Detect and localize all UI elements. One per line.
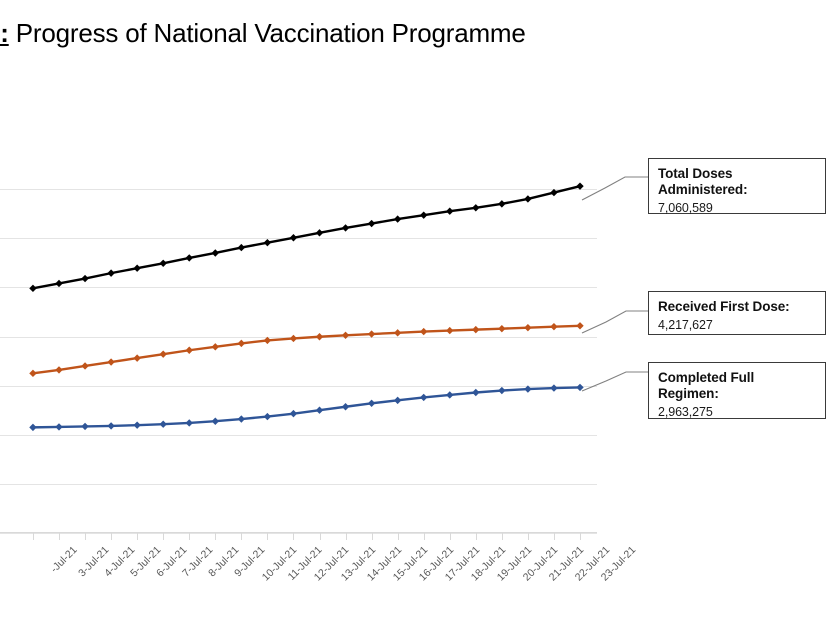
data-point-marker: [238, 415, 245, 422]
chart-x-axis: -Jul-213-Jul-214-Jul-215-Jul-216-Jul-217…: [0, 533, 597, 623]
data-point-marker: [55, 423, 62, 430]
callout-full-regimen-value: 2,963,275: [658, 405, 817, 420]
data-point-marker: [290, 410, 297, 417]
series-line: [33, 387, 580, 427]
data-point-marker: [576, 322, 583, 329]
x-axis-tick: [137, 533, 138, 540]
data-point-marker: [107, 358, 114, 365]
series-line: [33, 186, 580, 288]
x-axis-tick: [85, 533, 86, 540]
data-point-marker: [133, 421, 140, 428]
data-point-marker: [472, 326, 479, 333]
page-title-prefix: 2:: [0, 18, 9, 48]
x-axis-tick: [450, 533, 451, 540]
data-point-marker: [316, 229, 323, 236]
callout-first-dose[interactable]: Received First Dose: 4,217,627: [648, 291, 826, 335]
data-point-marker: [394, 397, 401, 404]
data-point-marker: [550, 189, 557, 196]
callout-total-doses-label: Total DosesAdministered:: [658, 166, 817, 198]
data-point-marker: [420, 211, 427, 218]
x-axis-tick: [215, 533, 216, 540]
page-title: 2: Progress of National Vaccination Prog…: [0, 18, 806, 49]
x-axis-tick: [502, 533, 503, 540]
data-point-marker: [55, 280, 62, 287]
data-point-marker: [576, 384, 583, 391]
data-point-marker: [133, 354, 140, 361]
chart-plot-area: [0, 140, 597, 533]
callout-total-doses[interactable]: Total DosesAdministered: 7,060,589: [648, 158, 826, 214]
data-point-marker: [29, 370, 36, 377]
data-point-marker: [212, 418, 219, 425]
data-point-marker: [342, 224, 349, 231]
x-axis-tick: [580, 533, 581, 540]
data-point-marker: [29, 424, 36, 431]
data-point-marker: [55, 366, 62, 373]
x-axis-tick: [528, 533, 529, 540]
data-point-marker: [394, 329, 401, 336]
data-point-marker: [524, 385, 531, 392]
data-point-marker: [446, 208, 453, 215]
data-point-marker: [472, 204, 479, 211]
x-axis-tick: [554, 533, 555, 540]
data-point-marker: [264, 337, 271, 344]
data-point-marker: [186, 419, 193, 426]
data-point-marker: [160, 350, 167, 357]
data-point-marker: [160, 420, 167, 427]
x-axis-tick: [189, 533, 190, 540]
data-point-marker: [524, 195, 531, 202]
data-point-marker: [133, 265, 140, 272]
data-point-marker: [81, 275, 88, 282]
series-total-doses-administered: [29, 182, 583, 292]
data-point-marker: [368, 330, 375, 337]
data-point-marker: [212, 249, 219, 256]
data-point-marker: [420, 394, 427, 401]
data-point-marker: [107, 269, 114, 276]
data-point-marker: [316, 333, 323, 340]
data-point-marker: [29, 285, 36, 292]
callout-total-doses-value: 7,060,589: [658, 201, 817, 216]
x-axis-tick: [372, 533, 373, 540]
data-point-marker: [550, 323, 557, 330]
x-axis-tick: [111, 533, 112, 540]
data-point-marker: [498, 200, 505, 207]
data-point-marker: [446, 391, 453, 398]
x-axis-tick: [163, 533, 164, 540]
callout-full-regimen[interactable]: Completed FullRegimen: 2,963,275: [648, 362, 826, 419]
series-received-first-dose: [29, 322, 583, 377]
callout-first-dose-value: 4,217,627: [658, 318, 817, 333]
chart-series-layer: [0, 140, 597, 533]
x-axis-tick: [346, 533, 347, 540]
data-point-marker: [238, 340, 245, 347]
data-point-marker: [368, 400, 375, 407]
data-point-marker: [524, 324, 531, 331]
x-axis-tick: [424, 533, 425, 540]
x-axis-tick: [476, 533, 477, 540]
data-point-marker: [316, 406, 323, 413]
data-point-marker: [472, 389, 479, 396]
x-axis-tick: [33, 533, 34, 540]
data-point-marker: [342, 332, 349, 339]
data-point-marker: [238, 244, 245, 251]
data-point-marker: [264, 413, 271, 420]
data-point-marker: [420, 328, 427, 335]
data-point-marker: [107, 422, 114, 429]
data-point-marker: [394, 215, 401, 222]
x-axis-tick: [267, 533, 268, 540]
x-axis-tick: [320, 533, 321, 540]
data-point-marker: [186, 254, 193, 261]
data-point-marker: [498, 325, 505, 332]
data-point-marker: [264, 239, 271, 246]
data-point-marker: [368, 220, 375, 227]
x-axis-tick: [59, 533, 60, 540]
data-point-marker: [290, 335, 297, 342]
x-axis-tick: [241, 533, 242, 540]
callout-full-regimen-label: Completed FullRegimen:: [658, 370, 817, 402]
page-title-text: Progress of National Vaccination Program…: [9, 18, 526, 48]
data-point-marker: [550, 384, 557, 391]
x-axis-tick: [398, 533, 399, 540]
data-point-marker: [212, 343, 219, 350]
data-point-marker: [160, 260, 167, 267]
data-point-marker: [446, 327, 453, 334]
data-point-marker: [498, 387, 505, 394]
callout-first-dose-label: Received First Dose:: [658, 299, 817, 315]
series-completed-full-regimen: [29, 384, 583, 431]
data-point-marker: [576, 182, 583, 189]
data-point-marker: [290, 234, 297, 241]
x-axis-tick: [293, 533, 294, 540]
data-point-marker: [342, 403, 349, 410]
data-point-marker: [81, 423, 88, 430]
series-line: [33, 326, 580, 374]
data-point-marker: [186, 347, 193, 354]
data-point-marker: [81, 362, 88, 369]
